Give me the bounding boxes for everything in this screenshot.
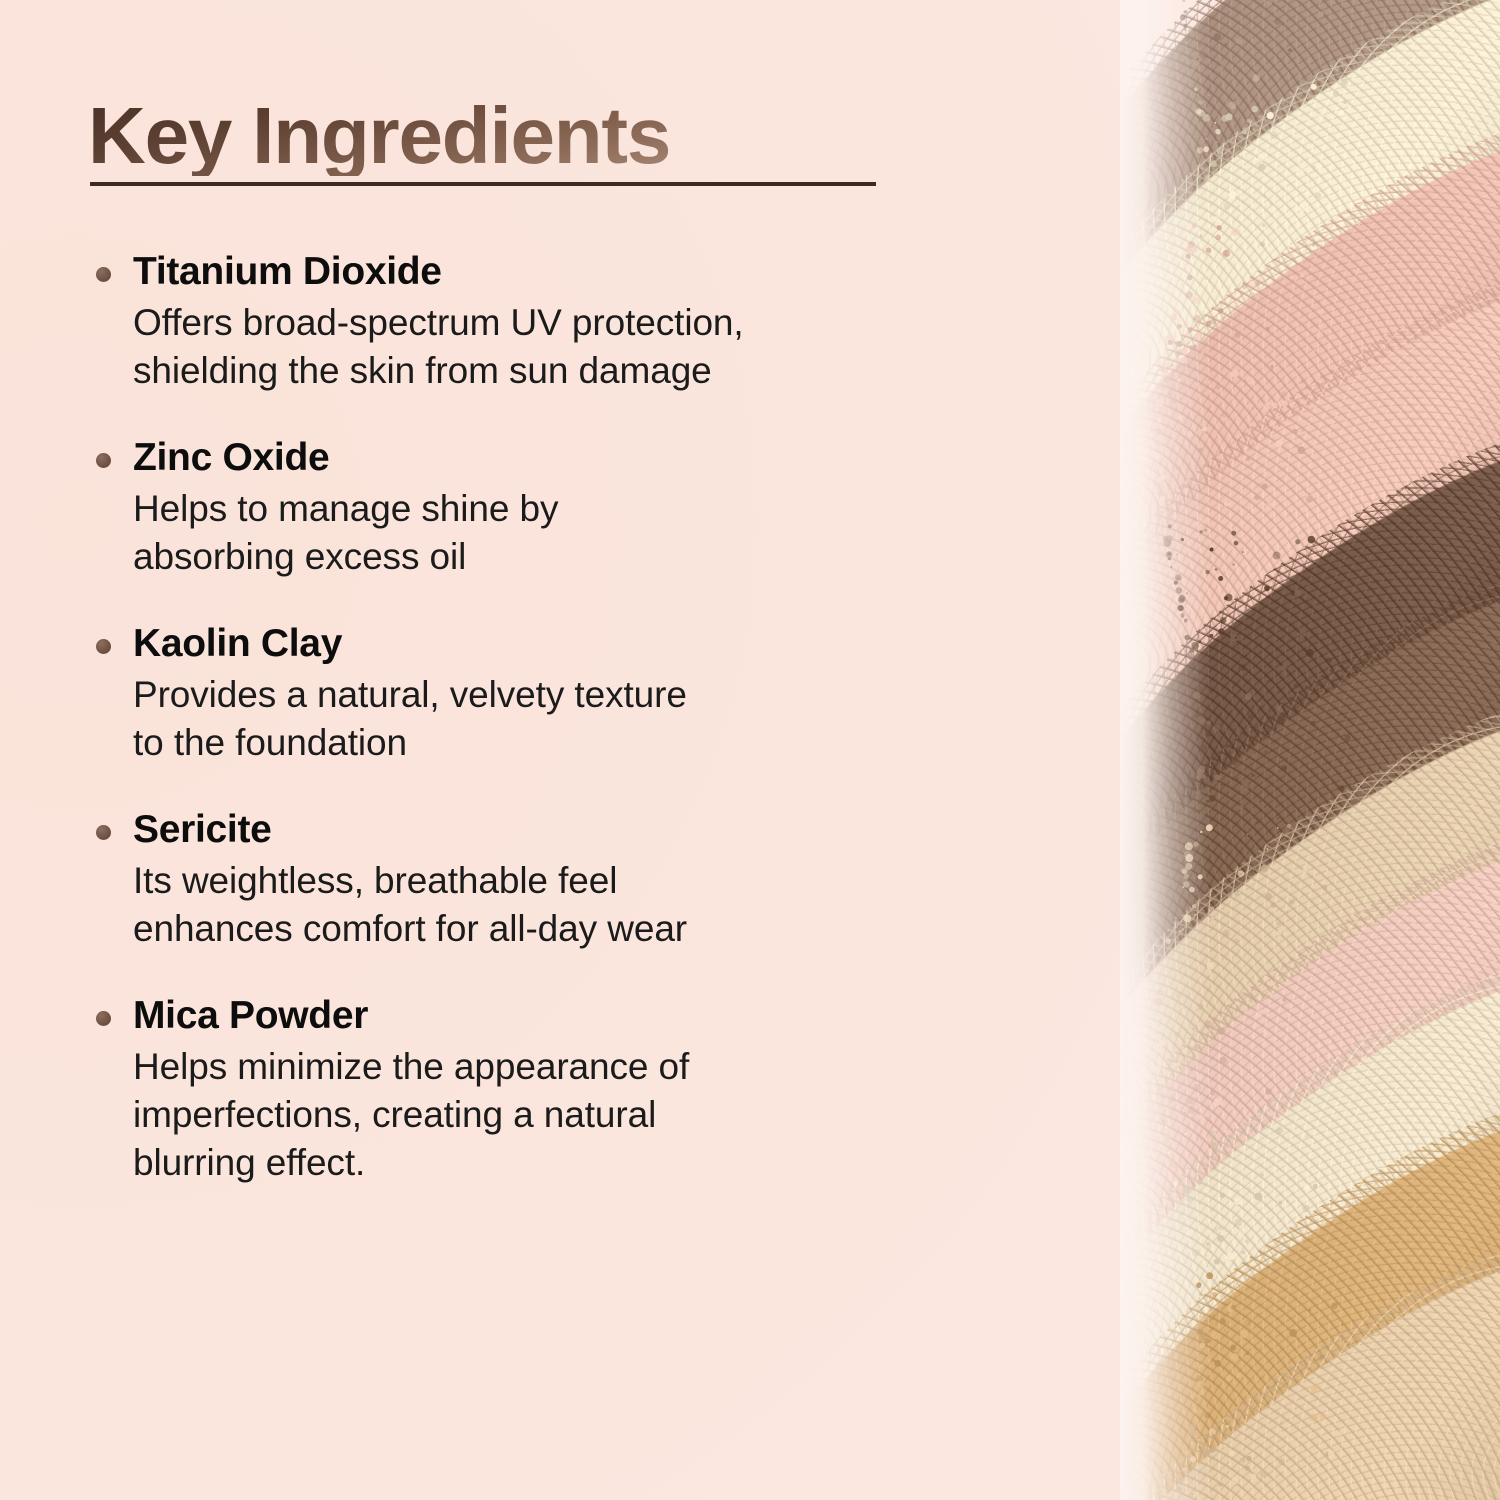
page-title: Key Ingredients <box>88 96 670 176</box>
bullet-dot-icon <box>96 639 111 654</box>
ingredient-description: Its weightless, breathable feel enhances… <box>133 857 988 953</box>
list-item: Kaolin Clay Provides a natural, velvety … <box>88 622 988 767</box>
bullet-dot-icon <box>96 267 111 282</box>
page-title-wrap: Key Ingredients <box>88 96 878 176</box>
ingredient-description: Offers broad-spectrum UV protection, shi… <box>133 299 988 395</box>
ingredient-name: Mica Powder <box>133 994 988 1039</box>
powder-edge-fade <box>1120 0 1210 1500</box>
list-item: Mica Powder Helps minimize the appearanc… <box>88 994 988 1187</box>
list-item: Titanium Dioxide Offers broad-spectrum U… <box>88 250 988 395</box>
list-item: Zinc Oxide Helps to manage shine by abso… <box>88 436 988 581</box>
list-item: Sericite Its weightless, breathable feel… <box>88 808 988 953</box>
bullet-dot-icon <box>96 1011 111 1026</box>
content-column: Key Ingredients Titanium Dioxide Offers … <box>88 96 988 1187</box>
bullet-dot-icon <box>96 453 111 468</box>
powder-swatch-strip <box>1120 0 1500 1500</box>
title-underline <box>90 182 876 186</box>
infographic-canvas: Key Ingredients Titanium Dioxide Offers … <box>0 0 1500 1500</box>
bullet-dot-icon <box>96 825 111 840</box>
ingredient-name: Sericite <box>133 808 988 853</box>
ingredient-description: Helps minimize the appearance of imperfe… <box>133 1043 988 1187</box>
ingredient-description: Provides a natural, velvety texture to t… <box>133 671 988 767</box>
ingredient-list: Titanium Dioxide Offers broad-spectrum U… <box>88 250 988 1187</box>
ingredient-name: Titanium Dioxide <box>133 250 988 295</box>
ingredient-description: Helps to manage shine by absorbing exces… <box>133 485 988 581</box>
ingredient-name: Zinc Oxide <box>133 436 988 481</box>
ingredient-name: Kaolin Clay <box>133 622 988 667</box>
